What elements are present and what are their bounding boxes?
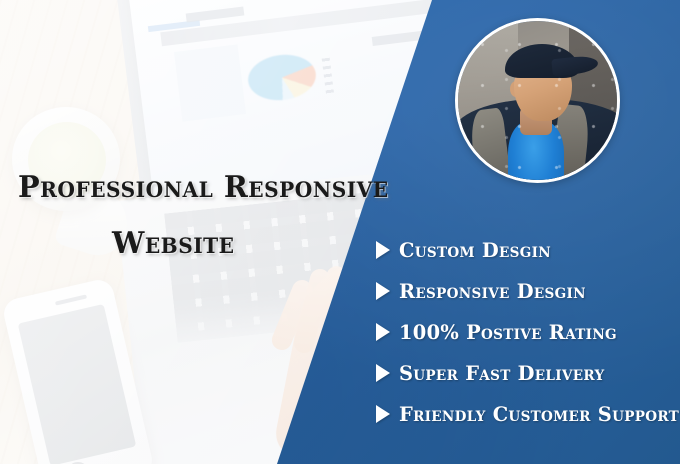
feature-item: Super Fast Delivery: [376, 352, 672, 393]
feature-item: Friendly Customer Support: [376, 393, 672, 434]
headline-line-2: Website: [112, 226, 234, 261]
avatar: [455, 18, 620, 183]
triangle-right-icon: [376, 364, 390, 382]
promo-banner: Professional Responsive Website Custom D…: [0, 0, 680, 464]
feature-item: Custom Desgin: [376, 229, 672, 270]
screen-content-panel: [174, 44, 246, 121]
triangle-right-icon: [376, 323, 390, 341]
feature-item: 100% Postive Rating: [376, 311, 672, 352]
triangle-right-icon: [376, 241, 390, 259]
triangle-right-icon: [376, 282, 390, 300]
feature-label: Custom Desgin: [399, 238, 551, 262]
feature-label: Friendly Customer Support: [399, 402, 679, 426]
feature-label: 100% Postive Rating: [399, 320, 617, 344]
feature-label: Super Fast Delivery: [399, 361, 604, 385]
headline-line-1: Professional Responsive: [18, 170, 389, 205]
feature-label: Responsive Desgin: [399, 279, 586, 303]
triangle-right-icon: [376, 405, 390, 423]
avatar-snow-specks: [458, 21, 617, 180]
feature-item: Responsive Desgin: [376, 270, 672, 311]
feature-list: Custom Desgin Responsive Desgin 100% Pos…: [376, 229, 672, 434]
